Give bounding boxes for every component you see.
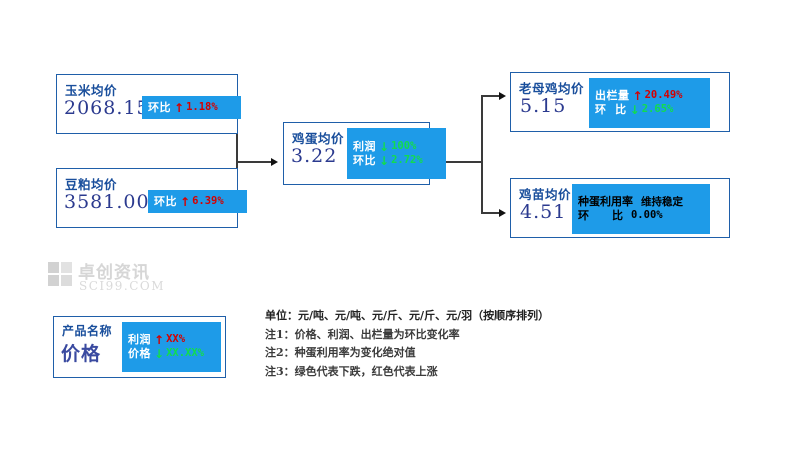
tag-soymeal-label-0: 环比 bbox=[154, 196, 177, 208]
tag-oldhen-label-0: 出栏量 bbox=[595, 90, 630, 102]
tag-chick: 种蛋利用率 维持稳定 环 比 0.00% bbox=[572, 184, 710, 234]
watermark-logo: 卓创资讯 SCI99.COM bbox=[48, 256, 178, 302]
tag-chick-label-1: 环 比 bbox=[578, 210, 623, 222]
tag-legend: 利润 ↑ XX% 价格 ↓ XX.XX% bbox=[122, 322, 221, 372]
tag-egg-label-1: 环比 bbox=[353, 155, 376, 167]
arrow-down-icon: ↓ bbox=[154, 348, 164, 360]
tag-egg: 利润 ↓ 100% 环比 ↓ 2.72% bbox=[347, 128, 446, 179]
arrow-up-icon: ↑ bbox=[154, 334, 164, 346]
arrow-down-icon: ↓ bbox=[630, 104, 640, 116]
tag-legend-label-0: 利润 bbox=[128, 334, 151, 346]
tag-row-legend-0: 利润 ↑ XX% bbox=[122, 333, 221, 347]
tag-egg-value-1: 2.72% bbox=[391, 155, 423, 166]
tag-chick-value-0: 维持稳定 bbox=[641, 197, 683, 208]
tag-row-egg-0: 利润 ↓ 100% bbox=[347, 140, 446, 154]
tag-chick-value-1: 0.00% bbox=[631, 210, 663, 221]
tag-oldhen-value-0: 20.49% bbox=[645, 90, 683, 101]
tag-row-egg-1: 环比 ↓ 2.72% bbox=[347, 154, 446, 168]
note-line-1: 注1：价格、利润、出栏量为环比变化率 bbox=[265, 326, 615, 345]
node-egg-value: 3.22 bbox=[291, 145, 337, 167]
arrow-down-icon: ↓ bbox=[379, 141, 389, 153]
node-chick-value: 4.51 bbox=[520, 201, 566, 223]
tag-row-oldhen-1: 环 比 ↓ 2.65% bbox=[589, 103, 710, 117]
tag-row-legend-1: 价格 ↓ XX.XX% bbox=[122, 347, 221, 361]
arrowhead-oldhen bbox=[499, 92, 506, 100]
tag-egg-value-0: 100% bbox=[391, 141, 416, 152]
arrowhead-egg bbox=[271, 158, 278, 166]
diagram-canvas: 玉米均价 2068.15 环比 ↑ 1.18% 豆粕均价 3581.00 环比 … bbox=[0, 0, 800, 450]
connector-to-chick bbox=[481, 212, 500, 214]
note-line-2: 注2：种蛋利用率为变化绝对值 bbox=[265, 344, 615, 363]
tag-legend-value-1: XX.XX% bbox=[166, 348, 204, 359]
note-line-unit: 单位：元/吨、元/吨、元/斤、元/斤、元/羽（按顺序排列） bbox=[265, 307, 615, 326]
connector-to-egg bbox=[236, 161, 272, 163]
tag-oldhen-label-1: 环 比 bbox=[595, 104, 627, 116]
notes-block: 单位：元/吨、元/吨、元/斤、元/斤、元/羽（按顺序排列） 注1：价格、利润、出… bbox=[265, 307, 615, 381]
tag-egg-label-0: 利润 bbox=[353, 141, 376, 153]
arrowhead-chick bbox=[499, 209, 506, 217]
logo-mark-icon bbox=[48, 262, 74, 288]
tag-row-soymeal-0: 环比 ↑ 6.39% bbox=[148, 195, 247, 209]
tag-soybean-meal: 环比 ↑ 6.39% bbox=[148, 190, 247, 213]
watermark-en-text: SCI99.COM bbox=[79, 279, 165, 293]
note-line-3: 注3：绿色代表下跌，红色代表上涨 bbox=[265, 363, 615, 382]
tag-row-chick-1: 环 比 0.00% bbox=[572, 209, 710, 223]
tag-row-corn-0: 环比 ↑ 1.18% bbox=[142, 101, 241, 115]
node-soybean-meal-value: 3581.00 bbox=[64, 191, 150, 213]
arrow-up-icon: ↑ bbox=[174, 102, 184, 114]
tag-soymeal-value-0: 6.39% bbox=[192, 196, 224, 207]
tag-oldhen-value-1: 2.65% bbox=[642, 104, 674, 115]
tag-chick-label-0: 种蛋利用率 bbox=[578, 196, 633, 208]
legend-title: 产品名称 bbox=[62, 322, 112, 339]
arrow-up-icon: ↑ bbox=[180, 196, 190, 208]
connector-split-vertical bbox=[481, 95, 483, 213]
legend-value: 价格 bbox=[61, 339, 101, 366]
arrow-up-icon: ↑ bbox=[633, 90, 643, 102]
tag-row-chick-0: 种蛋利用率 维持稳定 bbox=[572, 195, 710, 209]
tag-legend-label-1: 价格 bbox=[128, 348, 151, 360]
node-old-hen-value: 5.15 bbox=[520, 95, 566, 117]
tag-corn: 环比 ↑ 1.18% bbox=[142, 96, 241, 119]
tag-corn-value-0: 1.18% bbox=[186, 102, 218, 113]
arrow-down-icon: ↓ bbox=[379, 155, 389, 167]
node-corn-value: 2068.15 bbox=[64, 97, 150, 119]
tag-row-oldhen-0: 出栏量 ↑ 20.49% bbox=[589, 89, 710, 103]
tag-corn-label-0: 环比 bbox=[148, 102, 171, 114]
connector-to-oldhen bbox=[481, 95, 500, 97]
tag-legend-value-0: XX% bbox=[166, 334, 185, 345]
tag-old-hen: 出栏量 ↑ 20.49% 环 比 ↓ 2.65% bbox=[589, 78, 710, 128]
